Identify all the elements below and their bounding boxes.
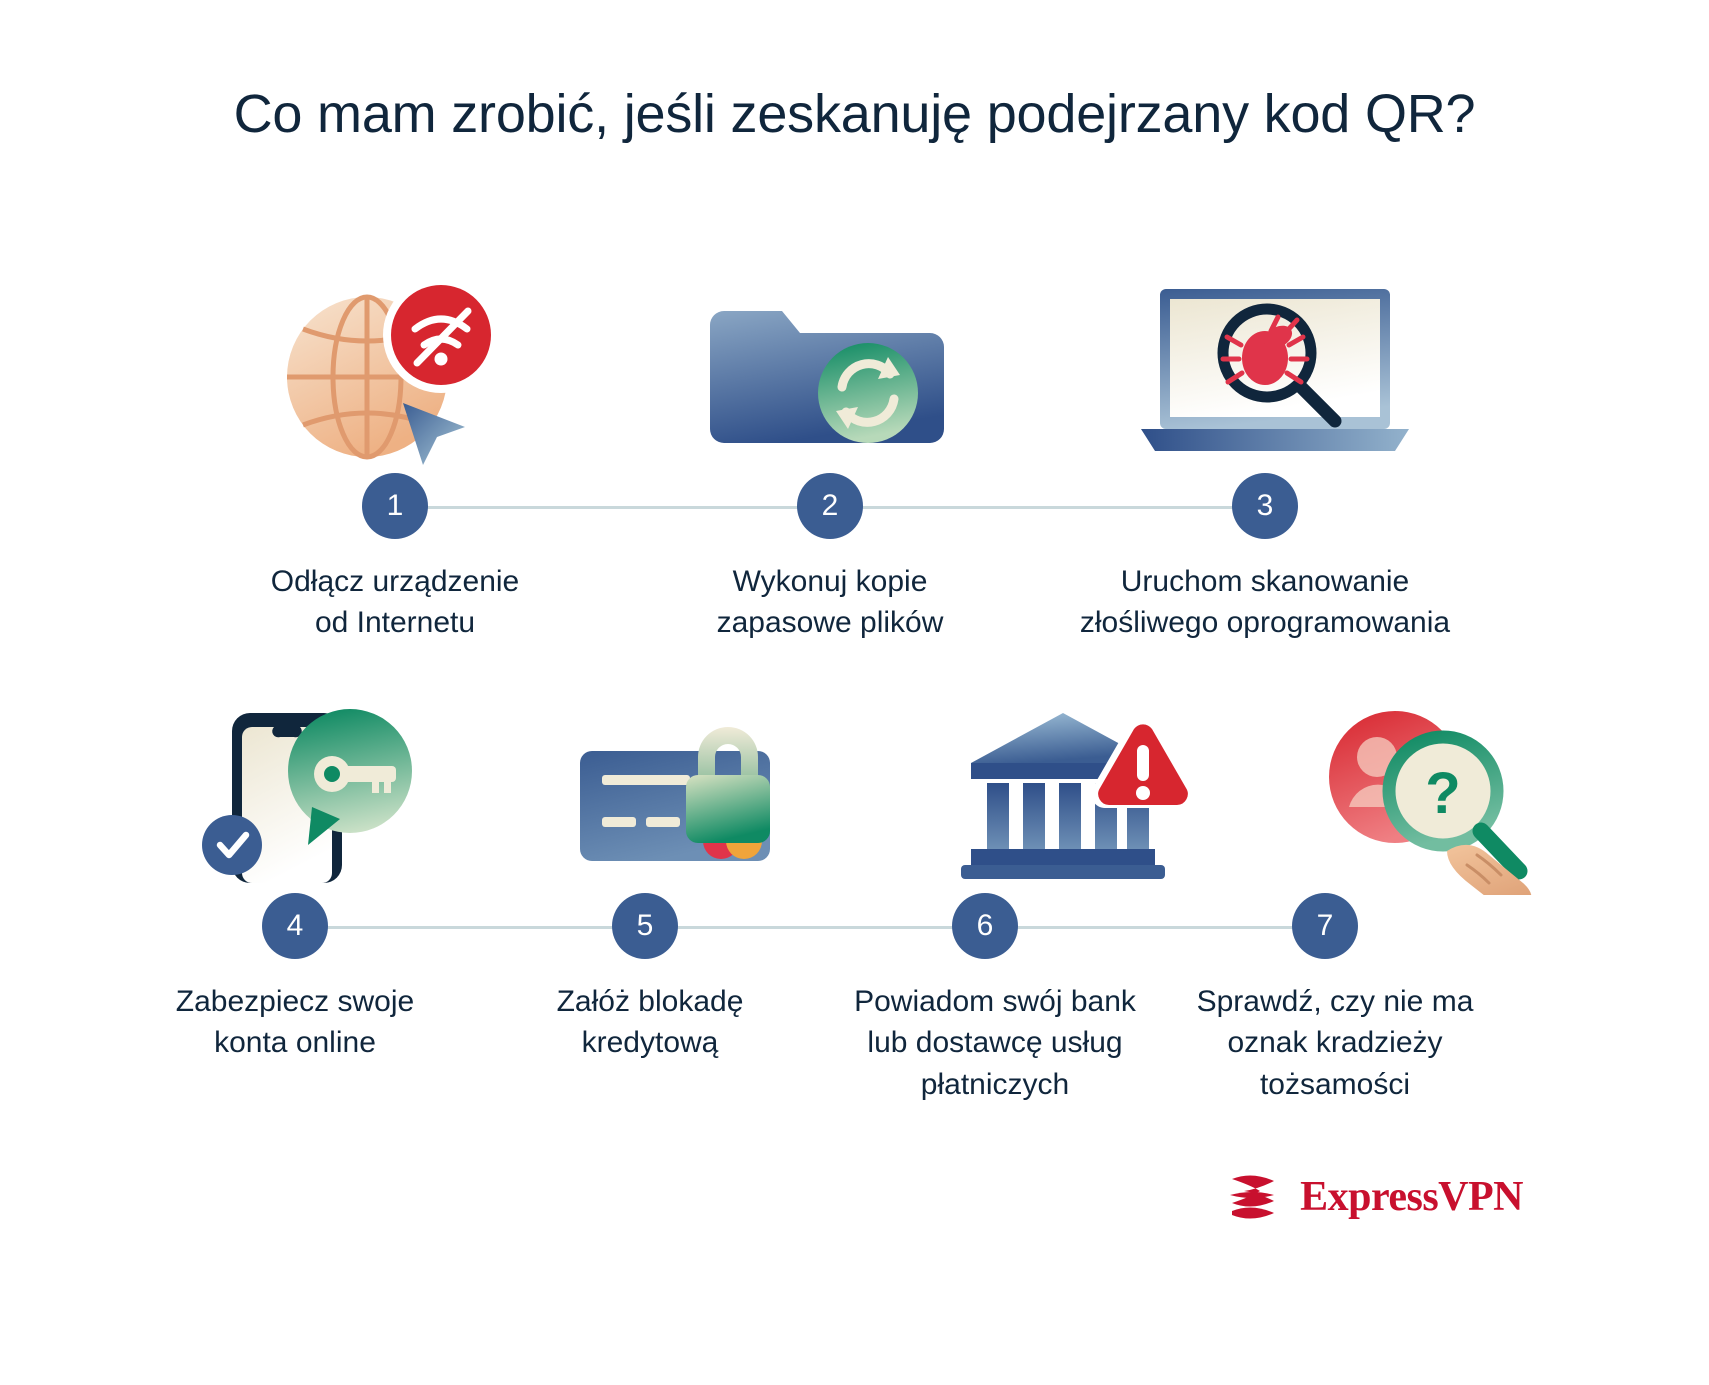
laptop-malware-scan-icon: [1135, 275, 1395, 465]
step-label-6: Powiadom swój bank lub dostawcę usług pł…: [800, 981, 1190, 1105]
connector-6-7: [985, 926, 1325, 929]
row-two-labels: Zabezpiecz swoje konta online Załóż blok…: [0, 981, 1709, 1131]
expressvpn-logo[interactable]: ExpressVPN: [1226, 1169, 1523, 1225]
step-label-1: Odłącz urządzenie od Internetu: [170, 561, 620, 644]
step-label-2: Wykonuj kopie zapasowe plików: [605, 561, 1055, 644]
bank-alert-icon: [955, 695, 1215, 885]
infographic-page: Co mam zrobić, jeśli zeskanuję podejrzan…: [0, 0, 1709, 1385]
step-circle-3[interactable]: 3: [1232, 473, 1298, 539]
step-label-7: Sprawdź, czy nie ma oznak kradzieży tożs…: [1140, 981, 1530, 1105]
phone-key-secure-icon: [190, 695, 450, 885]
row-one: 1 2 3 Odłącz urządzenie od Internetu Wyk…: [0, 275, 1709, 711]
step-circle-1[interactable]: 1: [362, 473, 428, 539]
connector-2-3: [830, 506, 1262, 509]
row-two-icons: ?: [0, 695, 1709, 885]
identity-search-question-icon: ?: [1295, 695, 1555, 885]
step-circle-6[interactable]: 6: [952, 893, 1018, 959]
step-label-4: Zabezpiecz swoje konta online: [95, 981, 495, 1064]
page-title: Co mam zrobić, jeśli zeskanuję podejrzan…: [0, 80, 1709, 149]
expressvpn-logo-mark: [1226, 1169, 1288, 1225]
connector-5-6: [645, 926, 985, 929]
row-one-labels: Odłącz urządzenie od Internetu Wykonuj k…: [0, 561, 1709, 711]
row-one-track: 1 2 3: [0, 473, 1709, 539]
credit-card-lock-icon: [570, 695, 830, 885]
step-circle-4[interactable]: 4: [262, 893, 328, 959]
svg-text:?: ?: [1425, 761, 1460, 826]
step-circle-2[interactable]: 2: [797, 473, 863, 539]
step-label-5: Załóż blokadę kredytową: [455, 981, 845, 1064]
row-two: ? 4 5 6 7 Zabezpiecz swoje ko: [0, 695, 1709, 1131]
step-circle-5[interactable]: 5: [612, 893, 678, 959]
step-label-3: Uruchom skanowanie złośliwego oprogramow…: [1035, 561, 1495, 644]
row-one-icons: [0, 275, 1709, 465]
globe-no-wifi-cursor-icon: [265, 275, 525, 465]
connector-1-2: [398, 506, 830, 509]
row-two-track: 4 5 6 7: [0, 893, 1709, 959]
step-circle-7[interactable]: 7: [1292, 893, 1358, 959]
connector-4-5: [305, 926, 645, 929]
folder-backup-sync-icon: [700, 275, 960, 465]
expressvpn-logo-text: ExpressVPN: [1300, 1173, 1523, 1221]
